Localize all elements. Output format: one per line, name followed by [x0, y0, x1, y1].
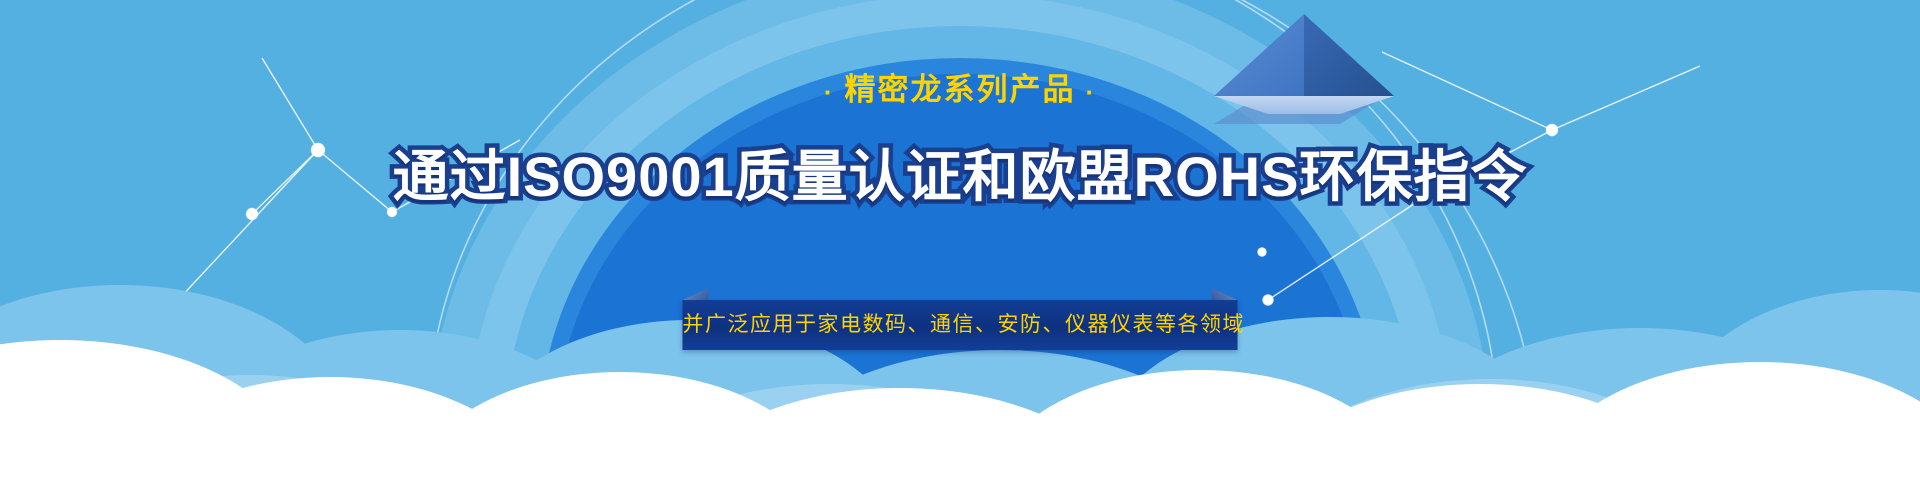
eyebrow-trail-dot-icon: · [1076, 77, 1107, 107]
eyebrow-text: ·精密龙系列产品· [0, 74, 1920, 105]
eyebrow-label: 精密龙系列产品 [845, 72, 1076, 107]
subtitle-ribbon: 并广泛应用于家电数码、通信、安防、仪器仪表等各领域 [683, 300, 1238, 350]
promo-banner: ·精密龙系列产品· 通过ISO9001质量认证和欧盟ROHS环保指令 并广泛应用… [0, 0, 1920, 480]
eyebrow-lead-dot-icon: · [814, 77, 845, 107]
headline-text: 通过ISO9001质量认证和欧盟ROHS环保指令 [0, 146, 1920, 208]
subtitle-text: 并广泛应用于家电数码、通信、安防、仪器仪表等各领域 [683, 300, 1238, 350]
